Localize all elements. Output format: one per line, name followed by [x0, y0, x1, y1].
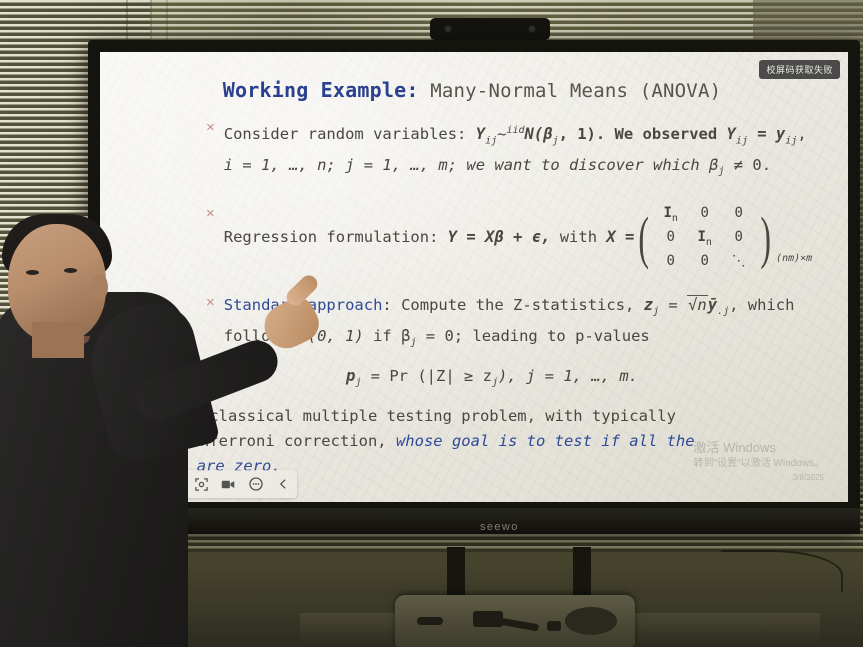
para-beta: β — [144, 457, 153, 475]
para-line1: … is a classical multiple testing proble… — [144, 407, 676, 425]
matrix-cell: 0 — [688, 252, 722, 271]
bullet-marker-icon: × — [206, 204, 215, 224]
b3-ybar-sub: .j — [717, 306, 729, 317]
center-equation: pj = Pr (|Z| ≥ zj), j = 1, …, m. — [114, 367, 830, 388]
desk-object-5 — [565, 607, 617, 635]
b3-line2-a: follows — [224, 327, 299, 345]
matrix-cell: 0 — [722, 204, 756, 228]
b1-y: = y — [748, 125, 785, 143]
b1-line2: i = 1, …, n; j = 1, …, m; we want to dis… — [224, 156, 719, 174]
b3-text-b: , which — [729, 296, 794, 314]
pen-icon[interactable] — [164, 474, 184, 494]
windows-activation-watermark: 激活 Windows 转到"设置"以激活 Windows。 3/8/2025 — [694, 439, 824, 484]
b1-Y2-sub: ij — [736, 135, 748, 146]
b3-line2-b: if β — [364, 327, 411, 345]
b1-Y-sub: ij — [485, 135, 497, 146]
b1-y-sub: ij — [785, 135, 797, 146]
b3-text-a: : Compute the Z-statistics, — [382, 296, 643, 314]
cable — [721, 550, 843, 592]
bullet-text-2: Regression formulation: Y = Xβ + ϵ, with… — [224, 204, 812, 271]
matrix-cell: 0 — [654, 252, 688, 271]
more-icon[interactable] — [246, 474, 266, 494]
video-camera-icon[interactable] — [218, 474, 238, 494]
b3-blue-label: Standard approach — [224, 296, 383, 314]
matrix-grid: In000In000⋱ — [654, 204, 756, 271]
para-line2-a: the Bonferroni correction, — [144, 432, 396, 450]
b3-line2-c: = 0; leading to p-values — [416, 327, 649, 345]
screenshot-icon[interactable] — [191, 474, 211, 494]
desk-object-2 — [473, 611, 503, 627]
watermark-line-2: 转到"设置"以激活 Windows。 — [694, 457, 824, 471]
matrix-cell: In — [654, 204, 688, 228]
b2-X: X = — [606, 228, 634, 246]
b3-ybar: ȳ — [708, 296, 717, 314]
b3-z: z — [644, 296, 653, 314]
desk-object-1 — [417, 617, 443, 625]
bullet-text-1: Consider random variables: Yij~iidN(βj, … — [224, 118, 807, 184]
matrix-cell: 0 — [688, 204, 722, 228]
b1-iid: iid — [506, 125, 524, 136]
b1-Nbeta: N(β — [525, 125, 553, 143]
b3-normal: N(0, 1) — [298, 327, 363, 345]
eq-p: p — [346, 367, 355, 385]
b2-text-a: Regression formulation: — [224, 228, 448, 246]
bullet-marker-icon: × — [206, 293, 215, 313]
b1-line2-end: ≠ 0. — [724, 156, 771, 174]
matrix-cell: 0 — [654, 228, 688, 252]
camera-lens-left — [444, 25, 452, 33]
bullet-marker-icon: × — [206, 118, 215, 138]
podium-desk — [395, 595, 635, 647]
desk-object-3 — [499, 618, 540, 632]
bullet-item-3: × Standard approach: Compute the Z-stati… — [114, 293, 830, 355]
page-title-rest: Many-Normal Means (ANOVA) — [430, 80, 721, 102]
presentation-screen[interactable]: 校屏码获取失败 Working Example: Many-Normal Mea… — [100, 52, 848, 502]
display-brand-logo: seewo — [480, 521, 519, 533]
para-line2-blue: whose goal is to test if all the — [396, 432, 695, 450]
matrix-cell: In — [688, 228, 722, 252]
b1-Y2: Y — [727, 125, 736, 143]
b1-text-c: , 1). We observed — [559, 125, 727, 143]
slide-content: Working Example: Many-Normal Means (ANOV… — [100, 52, 848, 485]
chevron-left-icon[interactable] — [273, 474, 293, 494]
matrix-cell: 0 — [722, 228, 756, 252]
photo-scene: seewo 校屏码获取失败 Working Example: Many-Norm… — [0, 0, 863, 647]
watermark-date: 3/8/2025 — [694, 473, 824, 484]
b1-Y: Y — [476, 125, 485, 143]
eq-body: = Pr (|Z| ≥ z — [361, 367, 492, 385]
annotation-toolbar[interactable] — [160, 470, 297, 498]
bullet-text-3: Standard approach: Compute the Z-statist… — [224, 293, 795, 355]
b1-text-a: Consider random variables: — [224, 125, 476, 143]
matrix-dimension: (nm)×m — [776, 220, 812, 271]
bullet-item-1: × Consider random variables: Yij~iidN(βj… — [114, 118, 830, 184]
desk-object-4 — [547, 621, 561, 631]
display-bezel-bottom — [88, 508, 860, 534]
b3-sqrt: √n — [687, 295, 708, 314]
matrix-block: (In000In000⋱)(nm)×m — [634, 204, 812, 271]
camera-bar — [430, 18, 550, 40]
watermark-line-1: 激活 Windows — [694, 439, 824, 457]
bullet-item-2: × Regression formulation: Y = Xβ + ϵ, wi… — [114, 204, 830, 271]
b2-text-b: with — [550, 228, 606, 246]
page-title-highlight: Working Example: — [223, 78, 419, 102]
camera-lens-right — [528, 25, 536, 33]
page-title: Working Example: Many-Normal Means (ANOV… — [114, 78, 830, 102]
b1-comma: , — [797, 125, 806, 143]
b3-eq: = — [659, 296, 687, 314]
b2-equation: Y = Xβ + ϵ, — [448, 228, 551, 246]
eq-tail: ), j = 1, …, m. — [498, 367, 638, 385]
matrix-cell: ⋱ — [722, 252, 756, 271]
